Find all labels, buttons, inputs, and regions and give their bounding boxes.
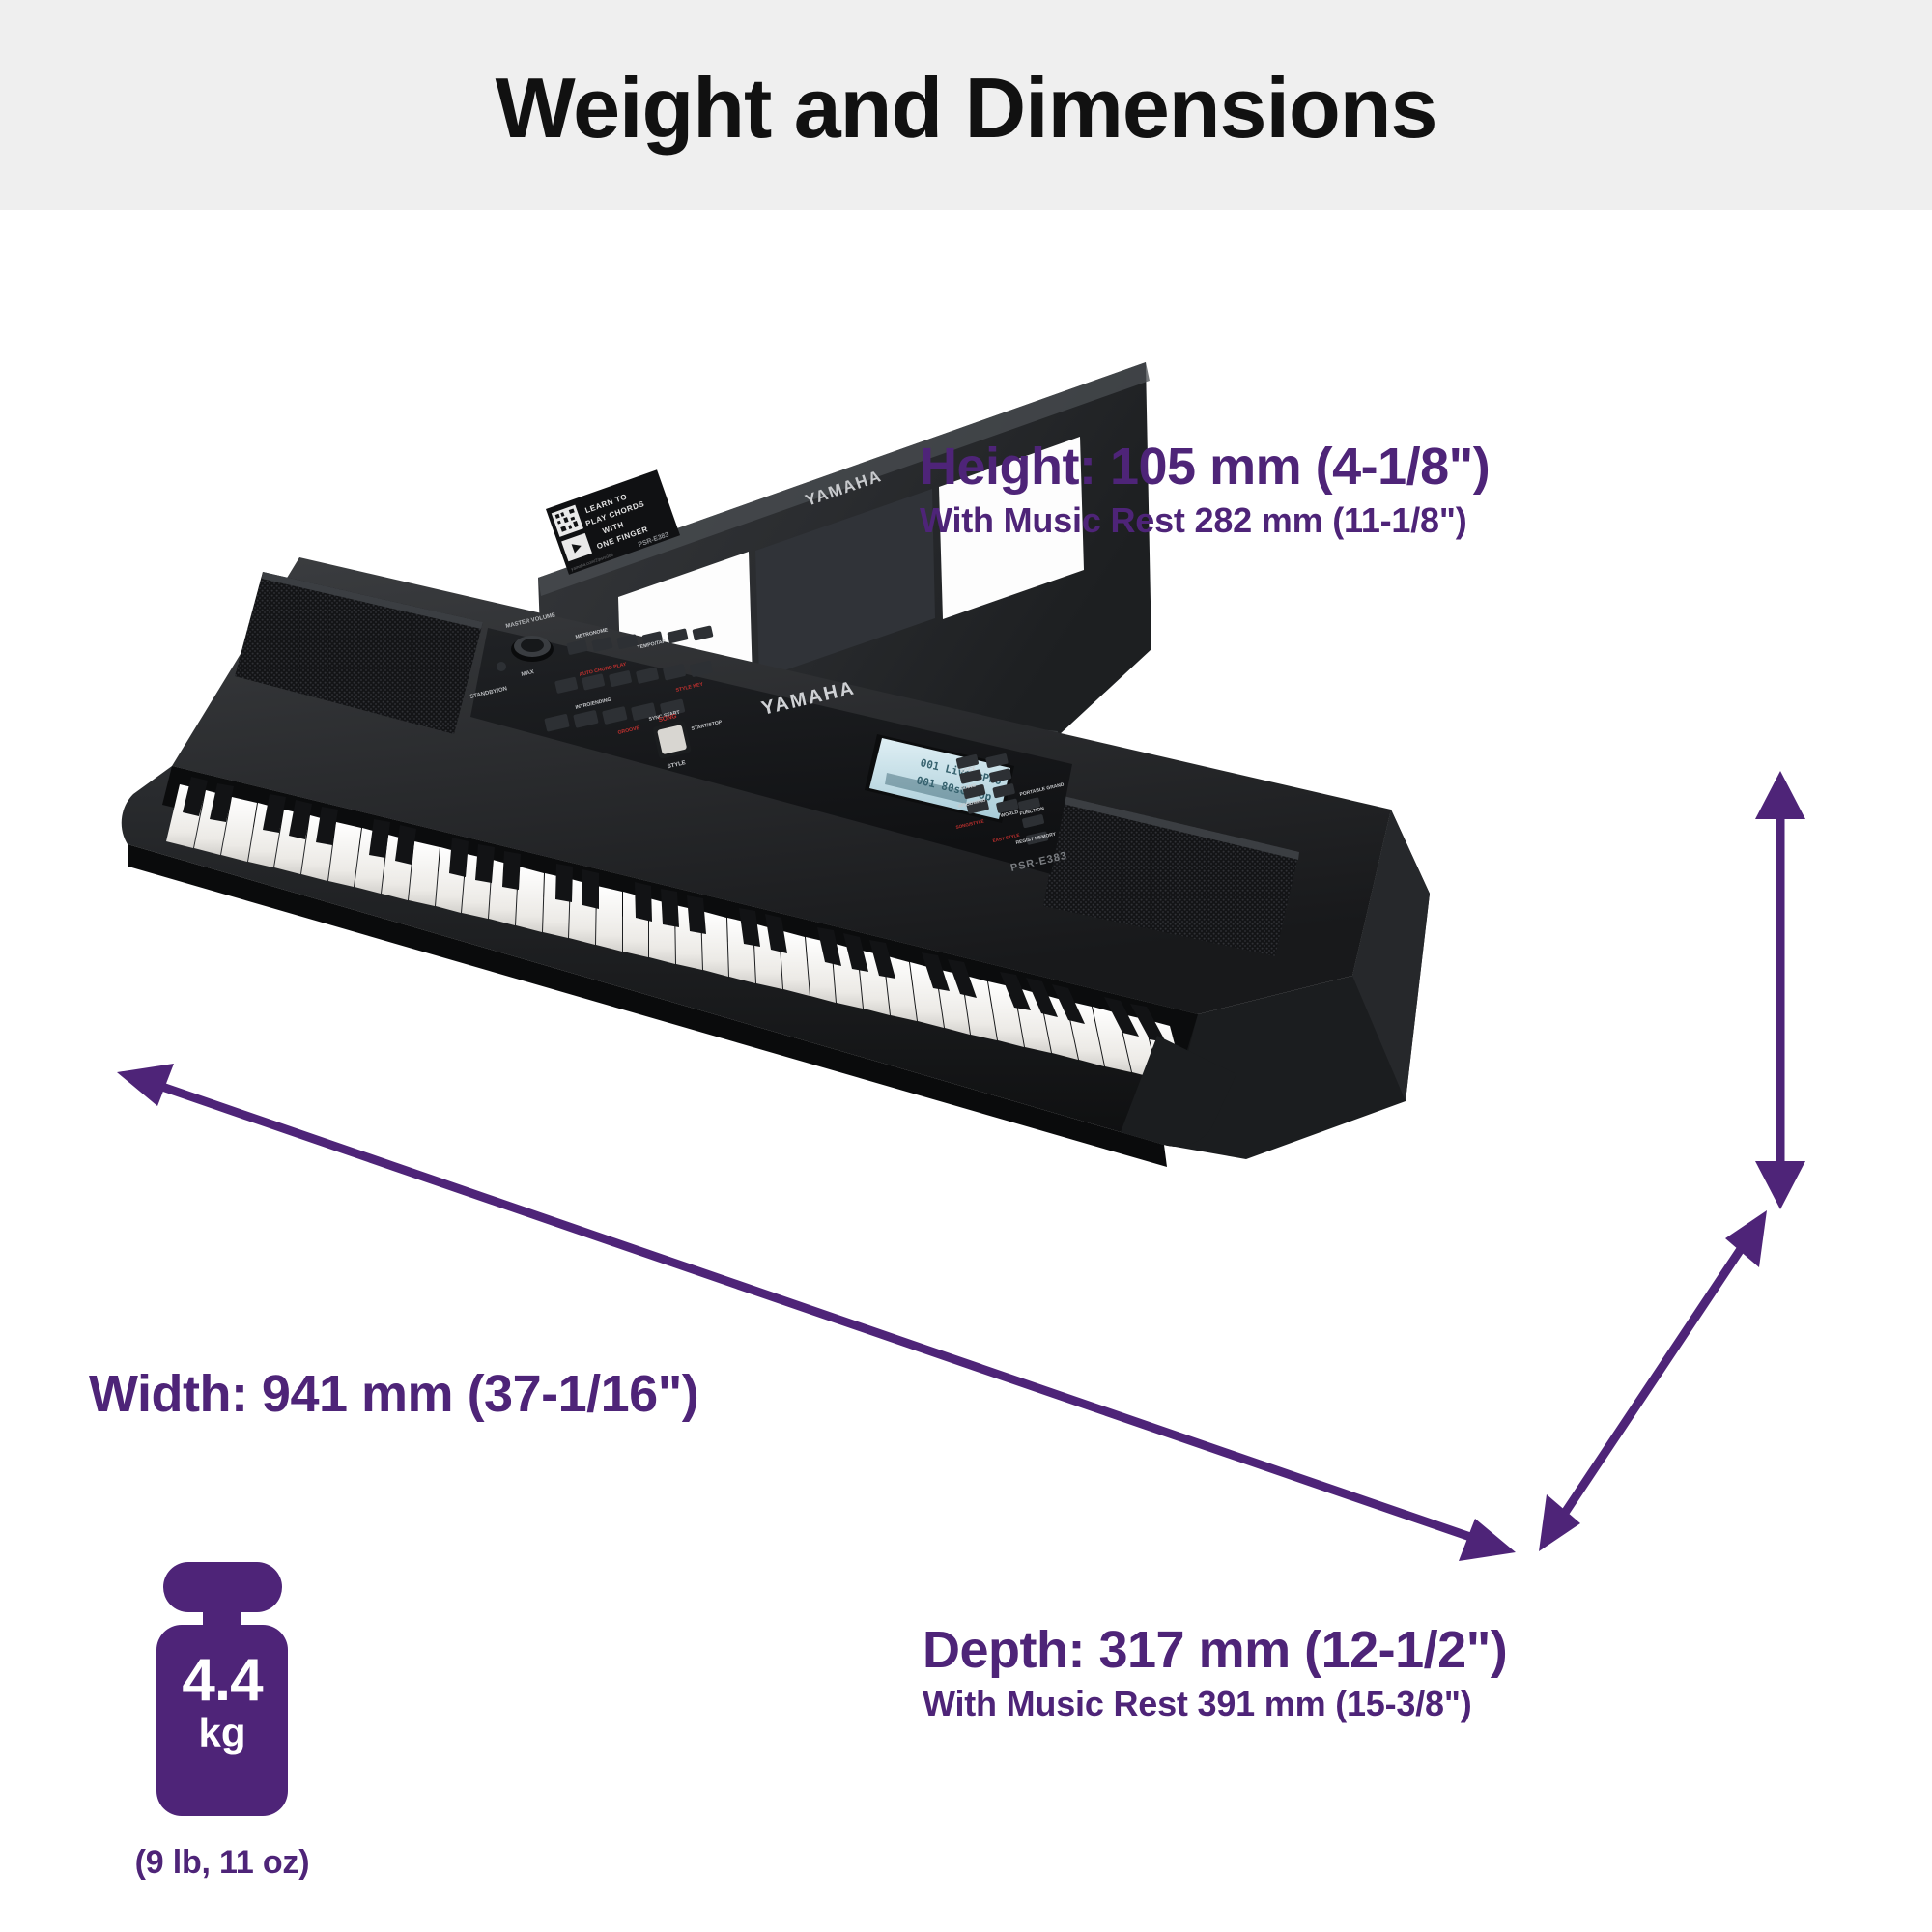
- right-speaker-grille: [1043, 796, 1299, 956]
- depth-primary-text: Depth: 317 mm (12-1/2"): [923, 1623, 1507, 1678]
- svg-text:FUNCTION: FUNCTION: [1019, 806, 1045, 817]
- svg-text:REGIST MEMORY: REGIST MEMORY: [1015, 831, 1057, 846]
- panel-button-rows: AUTO CHORD PLAY STYLE KEY GROOVE METRONO…: [544, 611, 723, 744]
- weight-value: 4.4: [119, 1651, 327, 1711]
- height-secondary-text: With Music Rest 282 mm (11-1/8"): [920, 500, 1490, 540]
- svg-text:WITH: WITH: [602, 520, 626, 535]
- svg-text:WOODWIND: WOODWIND: [957, 797, 986, 810]
- width-dimension-arrow: [131, 1076, 1501, 1548]
- function-buttons: PORTABLE GRAND FUNCTION REGIST MEMORY: [1015, 781, 1065, 845]
- depth-label-group: Depth: 317 mm (12-1/2") With Music Rest …: [923, 1623, 1507, 1724]
- model-mark: PSR-E383: [1009, 850, 1068, 874]
- svg-text:SYNC START: SYNC START: [648, 710, 681, 723]
- depth-dimension-arrow: [1551, 1229, 1754, 1533]
- height-primary-text: Height: 105 mm (4-1/8"): [920, 440, 1490, 495]
- page-title: Weight and Dimensions: [496, 66, 1437, 151]
- svg-text:TEMPO/TAP: TEMPO/TAP: [637, 639, 667, 651]
- width-arrow-heads: [117, 1064, 1516, 1561]
- weight-badge-group: 4.4 kg (9 lb, 11 oz): [92, 1550, 353, 1882]
- height-label-group: Height: 105 mm (4-1/8") With Music Rest …: [920, 440, 1490, 541]
- width-primary-text: Width: 941 mm (37-1/16"): [89, 1367, 698, 1422]
- svg-text:STANDBY/ON: STANDBY/ON: [469, 686, 508, 700]
- weight-block-icon: 4.4 kg: [119, 1550, 327, 1831]
- control-panel: MASTER VOLUME MAX STANDBY/ON: [469, 611, 1072, 874]
- svg-text:001 LiveGrPno: 001 LiveGrPno: [919, 756, 1003, 787]
- height-arrow-heads: [1755, 771, 1805, 1209]
- svg-text:ONE FINGER: ONE FINGER: [596, 525, 650, 551]
- play-button-icon: [572, 541, 583, 553]
- svg-text:SONG: SONG: [658, 713, 677, 724]
- header-band: Weight and Dimensions: [0, 0, 1932, 210]
- power-button: STANDBY/ON: [469, 662, 508, 700]
- svg-text:METRONOME: METRONOME: [575, 627, 609, 640]
- svg-text:WORLD: WORLD: [1000, 810, 1019, 819]
- chord-sticker: LEARN TO PLAY CHORDS WITH ONE FINGER yam…: [546, 469, 680, 575]
- svg-text:EASY STYLE: EASY STYLE: [992, 833, 1020, 843]
- infographic-stage: Weight and Dimensions: [0, 0, 1932, 1932]
- yamaha-logo-panel: YAMAHA: [759, 677, 858, 720]
- white-keys: [166, 784, 1185, 1085]
- keyboard-body: MASTER VOLUME MAX STANDBY/ON: [122, 557, 1430, 1167]
- weight-unit: kg: [119, 1713, 327, 1753]
- svg-text:AUTO CHORD PLAY: AUTO CHORD PLAY: [579, 662, 627, 678]
- svg-text:STYLE: STYLE: [667, 760, 686, 770]
- svg-text:MASTER VOLUME: MASTER VOLUME: [505, 612, 556, 630]
- style-button: STYLE SONG: [650, 711, 695, 771]
- voice-category-buttons: VOICE PIANO WOODWIND WORLD SONG/STYLE EA…: [955, 748, 1020, 843]
- depth-arrow-heads: [1539, 1210, 1767, 1551]
- svg-text:MAX: MAX: [521, 669, 534, 678]
- svg-text:yamaha.com/2/psre383: yamaha.com/2/psre383: [570, 552, 613, 571]
- yamaha-logo-rest: YAMAHA: [803, 467, 884, 510]
- svg-text:PLAY CHORDS: PLAY CHORDS: [584, 499, 645, 528]
- weight-imperial-text: (9 lb, 11 oz): [92, 1844, 353, 1882]
- svg-text:LEARN TO: LEARN TO: [583, 492, 628, 515]
- svg-text:VOICE: VOICE: [960, 765, 977, 774]
- width-label-group: Width: 941 mm (37-1/16"): [89, 1367, 698, 1422]
- black-keys: [183, 777, 1166, 1042]
- svg-text:PIANO: PIANO: [960, 783, 977, 792]
- left-speaker-grille: [235, 572, 483, 734]
- svg-text:START/STOP: START/STOP: [691, 720, 723, 732]
- svg-text:YAMAHA: YAMAHA: [803, 467, 884, 510]
- depth-secondary-text: With Music Rest 391 mm (15-3/8"): [923, 1684, 1507, 1723]
- svg-text:001 80sGtPop: 001 80sGtPop: [915, 774, 993, 804]
- svg-text:PSR-E383: PSR-E383: [638, 531, 670, 549]
- svg-text:INTRO/ENDING: INTRO/ENDING: [575, 697, 611, 711]
- keybed: [162, 766, 1198, 1085]
- svg-text:STYLE KEY: STYLE KEY: [675, 681, 704, 693]
- lcd-display: 001 LiveGrPno 001 80sGtPop: [865, 734, 1014, 823]
- svg-text:GROOVE: GROOVE: [617, 725, 640, 736]
- music-rest: YAMAHA LEARN TO PLAY CHORDS WITH ONE F: [533, 362, 1151, 754]
- master-volume-dial: MASTER VOLUME MAX: [505, 612, 556, 678]
- svg-text:PORTABLE GRAND: PORTABLE GRAND: [1019, 781, 1065, 797]
- svg-text:YAMAHA: YAMAHA: [759, 677, 858, 720]
- svg-text:SONG/STYLE: SONG/STYLE: [955, 818, 984, 830]
